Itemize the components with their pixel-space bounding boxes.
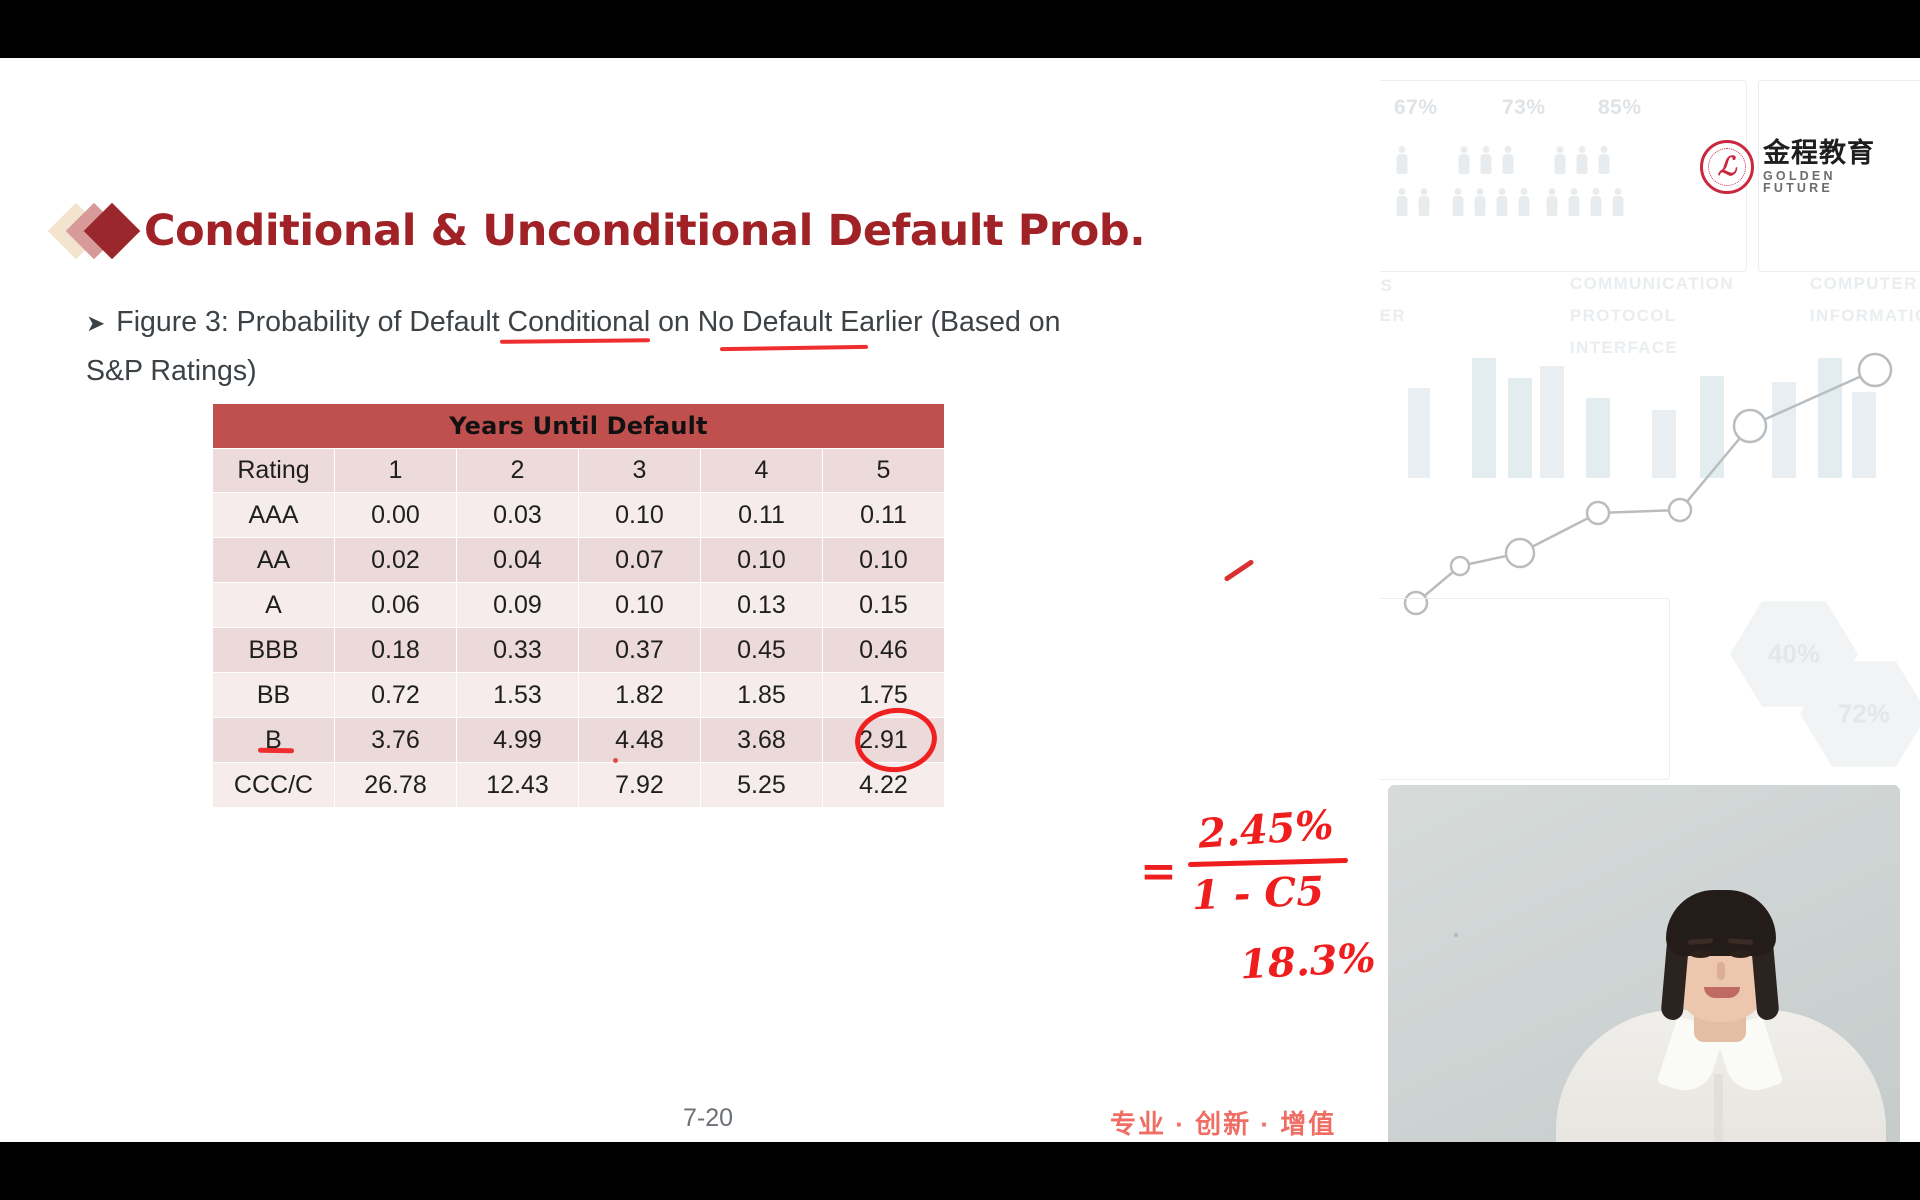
cell: 0.11 (701, 493, 823, 538)
column-header-year-3: 3 (579, 449, 701, 493)
footer-tagline: 专业 · 创新 · 增值 (1110, 1104, 1336, 1141)
row-label: A (213, 583, 335, 628)
person-icon (1478, 146, 1494, 176)
cell: 0.09 (457, 583, 579, 628)
column-header-year-5: 5 (823, 449, 945, 493)
table-row: AAA 0.00 0.03 0.10 0.11 0.11 (213, 493, 945, 538)
cell: 0.46 (823, 628, 945, 673)
cell: 0.03 (457, 493, 579, 538)
equation-denominator: 1 - C5 (1191, 868, 1325, 920)
cell: 4.99 (457, 718, 579, 763)
cell: 0.07 (579, 538, 701, 583)
table-row: A 0.06 0.09 0.10 0.13 0.15 (213, 583, 945, 628)
column-header-rating: Rating (213, 449, 335, 493)
table-row: CCC/C 26.78 12.43 7.92 5.25 4.22 (213, 763, 945, 808)
cell: 0.04 (457, 538, 579, 583)
webcam-panel[interactable] (1388, 785, 1900, 1142)
column-header-year-4: 4 (701, 449, 823, 493)
seal-glyph: ℒ (1703, 143, 1751, 191)
person-icon (1544, 188, 1560, 218)
row-label: BBB (213, 628, 335, 673)
logo-chinese-name: 金程教育 (1763, 140, 1910, 167)
cell: 0.10 (579, 493, 701, 538)
cell: 0.13 (701, 583, 823, 628)
slide-title-row: Conditional & Unconditional Default Prob… (56, 198, 1145, 264)
person-icon (1610, 188, 1626, 218)
cell: 7.92 (579, 763, 701, 808)
table-row: BBB 0.18 0.33 0.37 0.45 0.46 (213, 628, 945, 673)
person-icon (1494, 188, 1510, 218)
arrow-bullet-icon: ➤ (86, 310, 105, 336)
person-icon (1566, 188, 1582, 218)
row-label: CCC/C (213, 763, 335, 808)
cell: 26.78 (335, 763, 457, 808)
person-icon (1472, 188, 1488, 218)
equation-numerator: 2.45% (1197, 801, 1335, 857)
infographic-word-information: INFORMATION (1810, 306, 1920, 326)
infographic-word-computer: COMPUTER (1810, 274, 1918, 294)
person-icon (1456, 146, 1472, 176)
column-header-year-2: 2 (457, 449, 579, 493)
equation-equals: = (1140, 846, 1177, 897)
person-icon (1450, 188, 1466, 218)
person-icon (1588, 188, 1604, 218)
bullet-text: Figure 3: Probability of Default Conditi… (86, 306, 1060, 387)
infographic-word-ter: TER (1380, 306, 1406, 326)
row-label: BB (213, 673, 335, 718)
person-icon (1500, 146, 1516, 176)
cell: 4.48 (579, 718, 701, 763)
cell: 1.53 (457, 673, 579, 718)
row-label: B (213, 718, 335, 763)
slide-canvas: 67% 73% 85% ES TER COMMUNICATION PROTOCO… (0, 58, 1920, 1142)
cell: 0.10 (579, 583, 701, 628)
logo-english-name: GOLDEN FUTURE (1763, 170, 1910, 195)
cell: 0.11 (823, 493, 945, 538)
table-title: Years Until Default (213, 404, 945, 449)
infographic-percent-0: 67% (1394, 96, 1438, 120)
row-label: AAA (213, 493, 335, 538)
cell: 0.33 (457, 628, 579, 673)
cell: 0.02 (335, 538, 457, 583)
diamond-bullet-icon (56, 198, 144, 264)
infographic-word-interface: INTERFACE (1570, 338, 1678, 358)
infographic-word-es: ES (1380, 276, 1393, 296)
person-icon (1574, 146, 1590, 176)
letterbox-top (0, 0, 1920, 58)
equation-fraction-bar (1188, 858, 1348, 867)
infographic-word-communication: COMMUNICATION (1570, 274, 1734, 294)
row-label: AA (213, 538, 335, 583)
cell: 0.06 (335, 583, 457, 628)
annotation-tick-mark (1224, 559, 1255, 582)
cell: 0.15 (823, 583, 945, 628)
webcam-speck (1454, 933, 1458, 937)
cell: 1.85 (701, 673, 823, 718)
cell: 0.72 (335, 673, 457, 718)
cell: 1.82 (579, 673, 701, 718)
infographic-word-protocol: PROTOCOL (1570, 306, 1676, 326)
annotation-dot (613, 758, 618, 763)
person-icon (1416, 188, 1432, 218)
infographic-percent-1: 73% (1502, 96, 1546, 120)
person-icon (1394, 188, 1410, 218)
cell: 3.68 (701, 718, 823, 763)
person-icon (1552, 146, 1568, 176)
screen: 67% 73% 85% ES TER COMMUNICATION PROTOCO… (0, 0, 1920, 1200)
page-title: Conditional & Unconditional Default Prob… (144, 206, 1145, 256)
cell: 0.45 (701, 628, 823, 673)
hex-label-1: 72% (1800, 699, 1920, 730)
brand-logo: ℒ 金程教育 GOLDEN FUTURE (1700, 136, 1910, 198)
cell: 5.25 (701, 763, 823, 808)
table-row: AA 0.02 0.04 0.07 0.10 0.10 (213, 538, 945, 583)
cell: 0.18 (335, 628, 457, 673)
infographic-percent-2: 85% (1598, 96, 1642, 120)
cell: 12.43 (457, 763, 579, 808)
cell: 0.10 (823, 538, 945, 583)
table-row: B 3.76 4.99 4.48 3.68 2.91 (213, 718, 945, 763)
hex-badge-40: 40% (1730, 598, 1858, 710)
table-row: BB 0.72 1.53 1.82 1.85 1.75 (213, 673, 945, 718)
infographic-card-people (1380, 80, 1747, 272)
cell: 3.76 (335, 718, 457, 763)
person-icon (1394, 146, 1410, 176)
default-probability-table: Years Until Default Rating 1 2 3 4 5 AAA… (212, 403, 945, 808)
equation-result: 18.3% (1239, 934, 1377, 988)
person-icon (1516, 188, 1532, 218)
page-number: 7-20 (683, 1104, 733, 1133)
cell: 0.10 (701, 538, 823, 583)
person-icon (1596, 146, 1612, 176)
cell: 0.37 (579, 628, 701, 673)
instructor-figure (1538, 870, 1898, 1142)
annotation-underline-rating-b (258, 748, 294, 754)
hex-label-0: 40% (1730, 639, 1858, 670)
letterbox-bottom (0, 1142, 1920, 1200)
table-header-row: Rating 1 2 3 4 5 (213, 449, 945, 493)
column-header-year-1: 1 (335, 449, 457, 493)
seal-icon: ℒ (1700, 140, 1754, 194)
cell: 0.00 (335, 493, 457, 538)
hex-badge-72: 72% (1800, 658, 1920, 770)
bullet-paragraph: ➤Figure 3: Probability of Default Condit… (86, 298, 1086, 396)
